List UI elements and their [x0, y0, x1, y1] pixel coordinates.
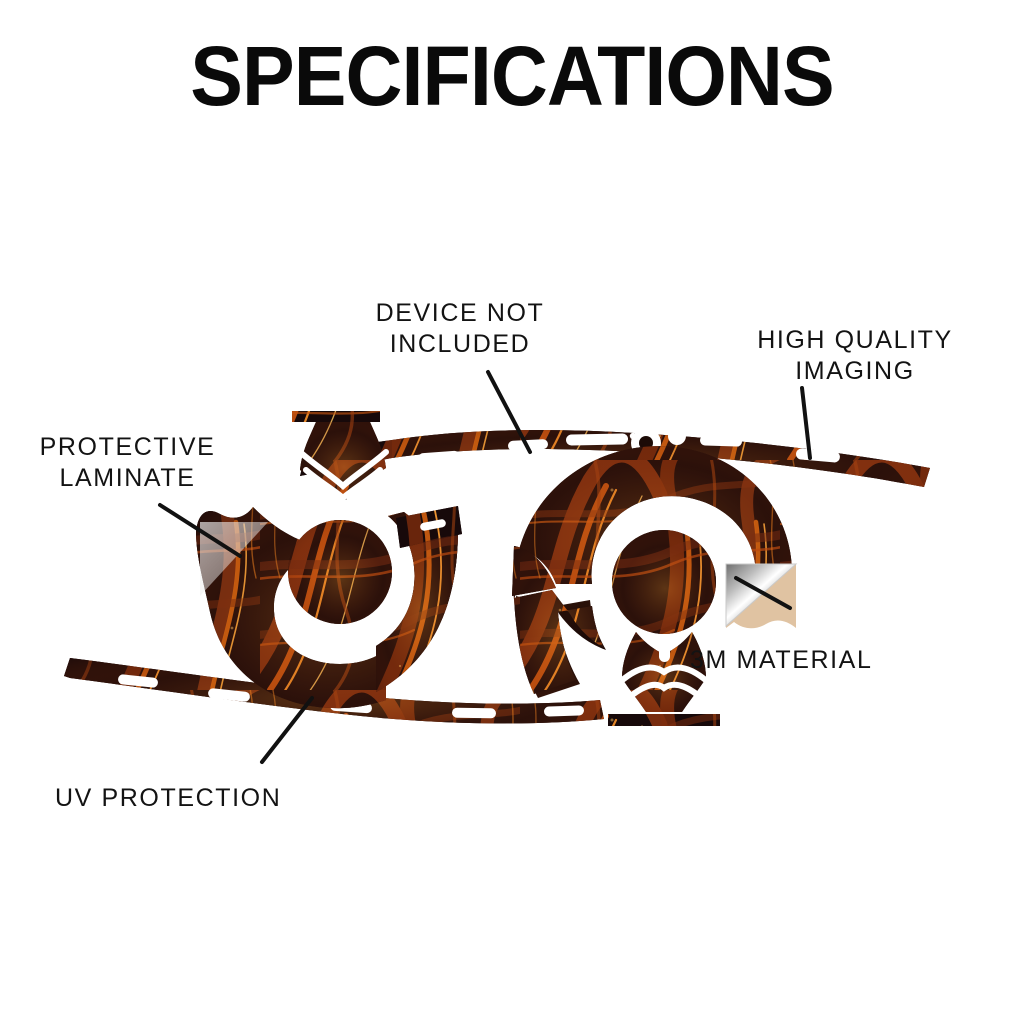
left-disc-stem-gap — [341, 624, 344, 658]
callout-device-not-included-line2: INCLUDED — [275, 329, 645, 360]
callout-3m-material-line1: 3M MATERIAL — [690, 645, 1010, 676]
callout-uv-protection: UV PROTECTION — [55, 783, 375, 814]
callout-high-quality-imaging-line2: IMAGING — [700, 356, 1010, 387]
right-shield-slot-cutout — [659, 636, 670, 662]
right-disc-stem-gap — [663, 498, 666, 530]
callout-protective-laminate-line1: PROTECTIVE — [0, 432, 255, 463]
callout-device-not-included-line1: DEVICE NOT — [275, 298, 645, 329]
leader-line-uv-protection — [262, 698, 312, 762]
callout-uv-protection-line1: UV PROTECTION — [55, 783, 375, 814]
callout-3m-material: 3M MATERIAL — [690, 645, 1010, 676]
callout-protective-laminate-line2: LAMINATE — [0, 463, 255, 494]
skin-kit-illustration — [0, 0, 1024, 1024]
skin-piece-right-disc — [610, 528, 720, 638]
callout-protective-laminate: PROTECTIVE LAMINATE — [0, 432, 255, 493]
callout-high-quality-imaging-line1: HIGH QUALITY — [700, 325, 1010, 356]
callout-high-quality-imaging: HIGH QUALITY IMAGING — [700, 325, 1010, 386]
leader-line-high-quality-imaging — [802, 388, 810, 458]
skin-piece-left-shield — [292, 415, 396, 526]
callout-device-not-included: DEVICE NOT INCLUDED — [275, 298, 645, 359]
specifications-page: SPECIFICATIONS — [0, 0, 1024, 1024]
skin-piece-left-disc — [286, 518, 396, 628]
3m-material-swatch — [726, 564, 796, 628]
